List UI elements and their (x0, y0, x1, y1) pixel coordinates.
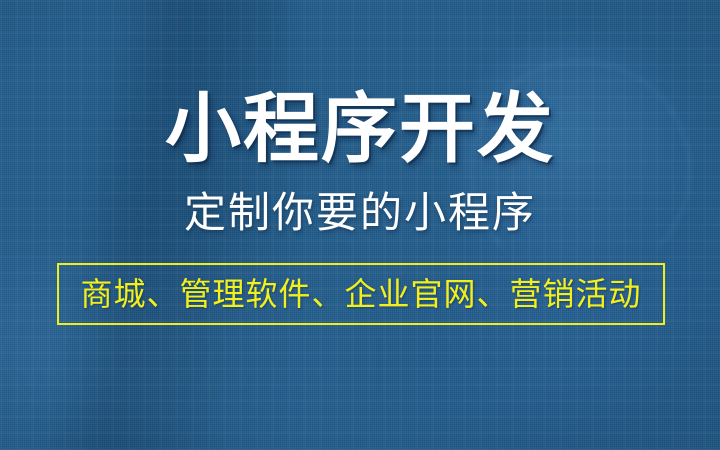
subheadline-text: 定制你要的小程序 (0, 192, 720, 234)
headline-title: 小程序开发 (0, 92, 720, 168)
tagline-box: 商城、管理软件、企业官网、营销活动 (57, 263, 665, 325)
tagline-text: 商城、管理软件、企业官网、营销活动 (80, 278, 641, 310)
promo-banner: 小程序开发 定制你要的小程序 商城、管理软件、企业官网、营销活动 (0, 0, 720, 450)
banner-content: 小程序开发 定制你要的小程序 商城、管理软件、企业官网、营销活动 (0, 0, 720, 450)
